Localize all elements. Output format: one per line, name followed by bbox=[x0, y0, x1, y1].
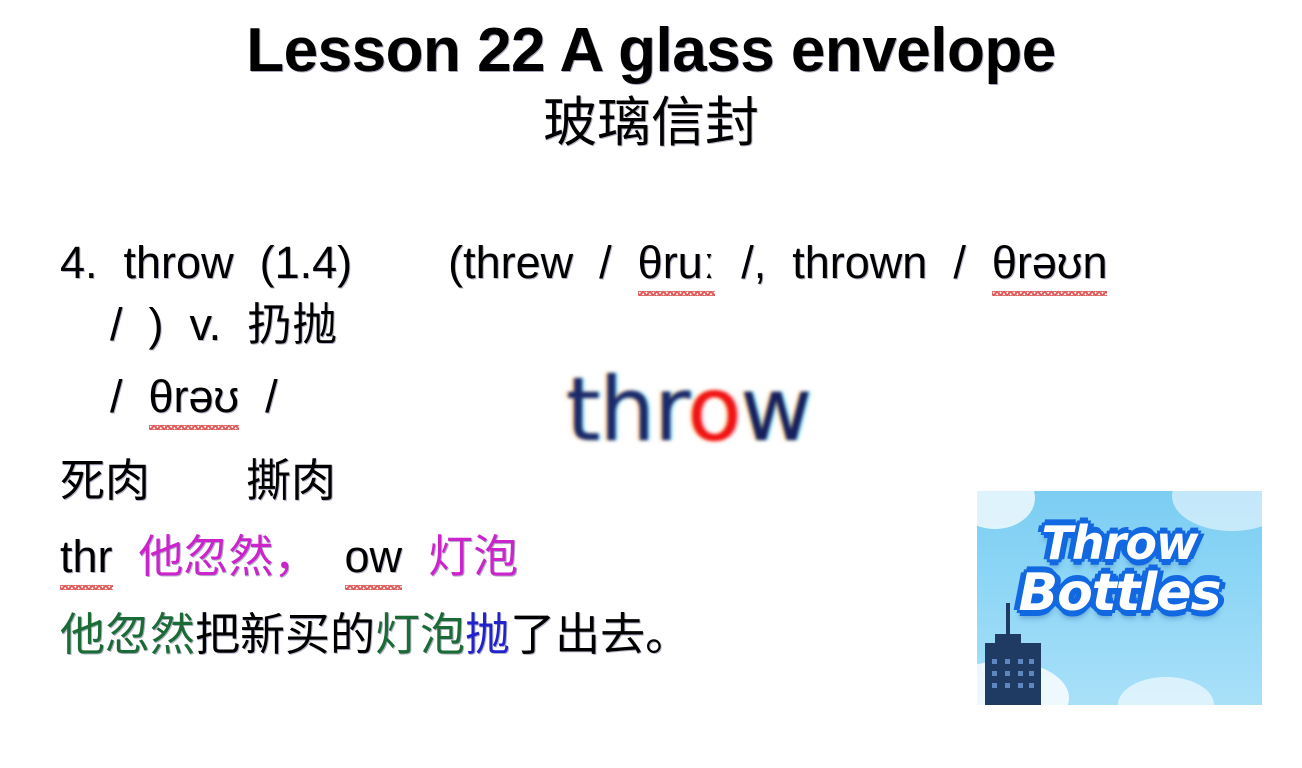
entry-line-1: 4.throw(1.4)(threw/θruː/,thrown/θrəʊn bbox=[60, 232, 1300, 294]
headword-ipa: θrəʊ bbox=[149, 366, 240, 428]
game-logo-line-1: Throw bbox=[977, 521, 1262, 565]
building-silhouette-icon bbox=[985, 643, 1041, 705]
building-window bbox=[1029, 659, 1034, 664]
building-window bbox=[992, 659, 997, 664]
building-window bbox=[1005, 671, 1010, 676]
throw-word-part-o: o bbox=[688, 358, 741, 461]
building-window bbox=[1029, 683, 1034, 688]
mnemonic-segment-thr: thr bbox=[60, 526, 113, 588]
mnemonic-chinese-1: 他忽然， bbox=[139, 530, 319, 583]
building-window bbox=[1018, 659, 1023, 664]
cloud-shape bbox=[1118, 677, 1214, 705]
mnemonic-hint-left: 死肉 bbox=[60, 454, 150, 507]
sentence-part-black-2: 了出去。 bbox=[510, 608, 690, 661]
past-participle-ipa: θrəʊn bbox=[992, 232, 1108, 294]
ipa-open-slash: / bbox=[110, 371, 123, 422]
building-window bbox=[1005, 683, 1010, 688]
building-window bbox=[992, 683, 997, 688]
building-window bbox=[1029, 671, 1034, 676]
game-logo-line-2: Bottles bbox=[977, 569, 1262, 619]
sentence-part-green-2: 灯泡 bbox=[375, 608, 465, 661]
forms-open-paren: ( bbox=[448, 237, 463, 288]
entry-number: 4. bbox=[60, 237, 98, 288]
past-participle-word: thrown bbox=[792, 237, 927, 288]
past-tense-ipa-close-slash: /, bbox=[741, 237, 766, 288]
mnemonic-hint-right: 撕肉 bbox=[246, 454, 336, 507]
entry-reference: (1.4) bbox=[260, 237, 353, 288]
throw-word-part-w: w bbox=[740, 358, 811, 461]
part-of-speech: v. bbox=[190, 299, 222, 350]
sentence-part-green-1: 他忽然 bbox=[60, 608, 195, 661]
past-participle-ipa-open-slash: / bbox=[953, 237, 966, 288]
page-title-english: Lesson 22 A glass envelope bbox=[0, 18, 1302, 83]
building-window bbox=[1018, 671, 1023, 676]
building-window bbox=[1005, 659, 1010, 664]
sentence-part-black-1: 把新买的 bbox=[195, 608, 375, 661]
throw-word-part-thr: thr bbox=[566, 358, 688, 461]
past-tense-ipa-open-slash: / bbox=[599, 237, 612, 288]
building-window bbox=[1018, 683, 1023, 688]
title-block: Lesson 22 A glass envelope 玻璃信封 bbox=[0, 18, 1302, 157]
forms-close-paren: ) bbox=[149, 299, 164, 350]
sentence-part-blue: 抛 bbox=[465, 608, 510, 661]
past-tense-ipa: θruː bbox=[638, 232, 716, 294]
page-title-chinese: 玻璃信封 bbox=[0, 89, 1302, 157]
past-tense-word: threw bbox=[463, 237, 573, 288]
throw-word-graphic: throw bbox=[566, 366, 811, 454]
building-window bbox=[992, 671, 997, 676]
entry-line-2: /)v.扔抛 bbox=[60, 294, 1300, 356]
mnemonic-chinese-2: 灯泡 bbox=[428, 530, 518, 583]
building-roof bbox=[995, 634, 1021, 644]
entry-meaning-chinese: 扔抛 bbox=[247, 298, 337, 351]
game-logo-text: Throw Bottles bbox=[977, 521, 1262, 619]
ipa-close-slash: / bbox=[265, 371, 278, 422]
entry-headword: throw bbox=[124, 237, 234, 288]
past-participle-ipa-close-slash: / bbox=[110, 299, 123, 350]
throw-bottles-game-image: Throw Bottles bbox=[977, 491, 1262, 705]
mnemonic-segment-ow: ow bbox=[345, 526, 403, 588]
